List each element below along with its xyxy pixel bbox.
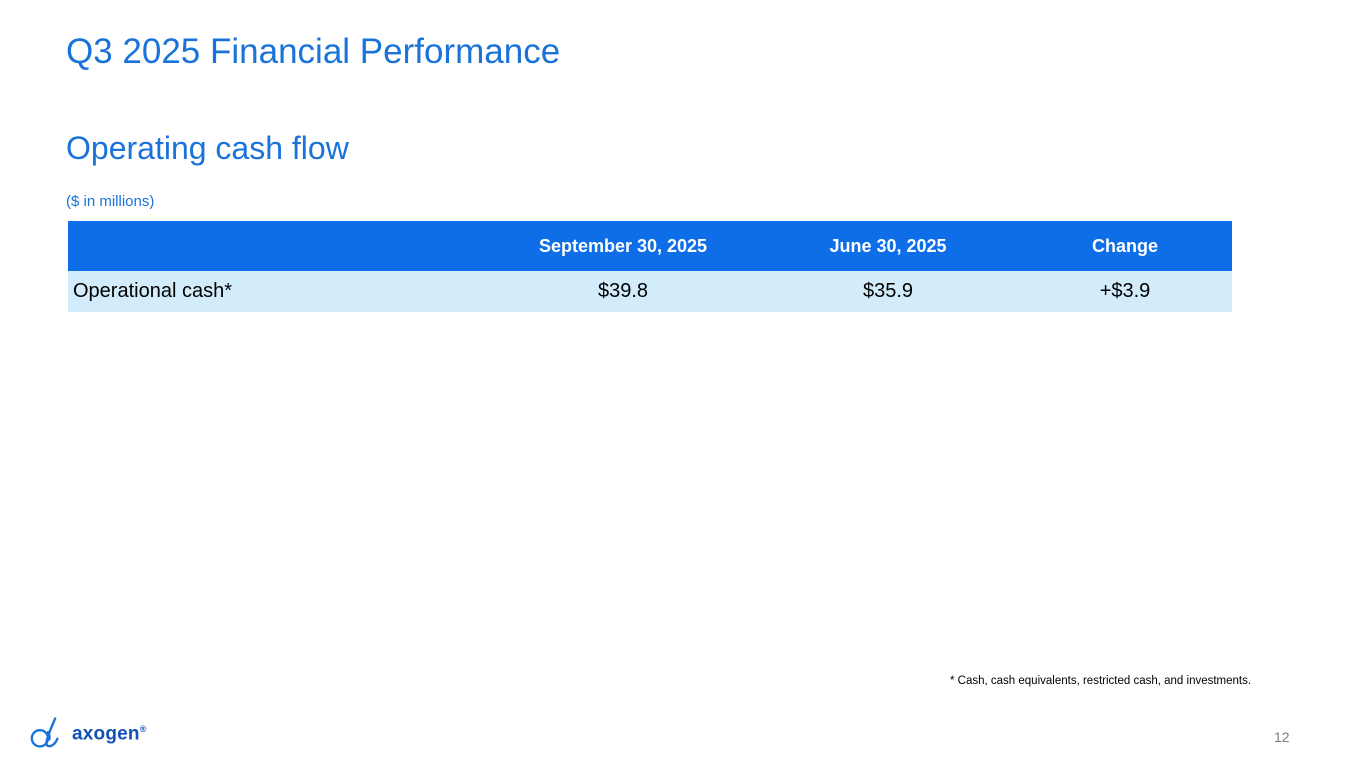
registered-trademark-icon: ® [140, 724, 147, 734]
column-header-label [68, 221, 488, 271]
section-title: Operating cash flow [66, 127, 349, 169]
axogen-logo: axogen® [28, 712, 147, 752]
table-body: Operational cash* $39.8 $35.9 +$3.9 [68, 271, 1232, 312]
column-header-june-30-2025: June 30, 2025 [758, 221, 1018, 271]
axogen-wordmark: axogen® [72, 719, 147, 744]
slide-canvas: Q3 2025 Financial Performance Operating … [0, 0, 1365, 768]
operating-cash-flow-table: September 30, 2025 June 30, 2025 Change … [68, 221, 1232, 312]
table-header: September 30, 2025 June 30, 2025 Change [68, 221, 1232, 271]
units-note: ($ in millions) [66, 192, 154, 212]
axogen-swirl-icon [28, 714, 68, 750]
table-row: Operational cash* $39.8 $35.9 +$3.9 [68, 271, 1232, 312]
column-header-change: Change [1018, 221, 1232, 271]
row-label-operational-cash: Operational cash* [68, 271, 488, 312]
page-number: 12 [1274, 728, 1290, 746]
axogen-wordmark-text: axogen [72, 724, 140, 745]
footnote: * Cash, cash equivalents, restricted cas… [950, 674, 1251, 689]
column-header-september-30-2025: September 30, 2025 [488, 221, 758, 271]
page-title: Q3 2025 Financial Performance [66, 30, 560, 74]
cell-operational-cash-june-30-2025: $35.9 [758, 271, 1018, 312]
table-header-row: September 30, 2025 June 30, 2025 Change [68, 221, 1232, 271]
cell-operational-cash-change: +$3.9 [1018, 271, 1232, 312]
cell-operational-cash-september-30-2025: $39.8 [488, 271, 758, 312]
